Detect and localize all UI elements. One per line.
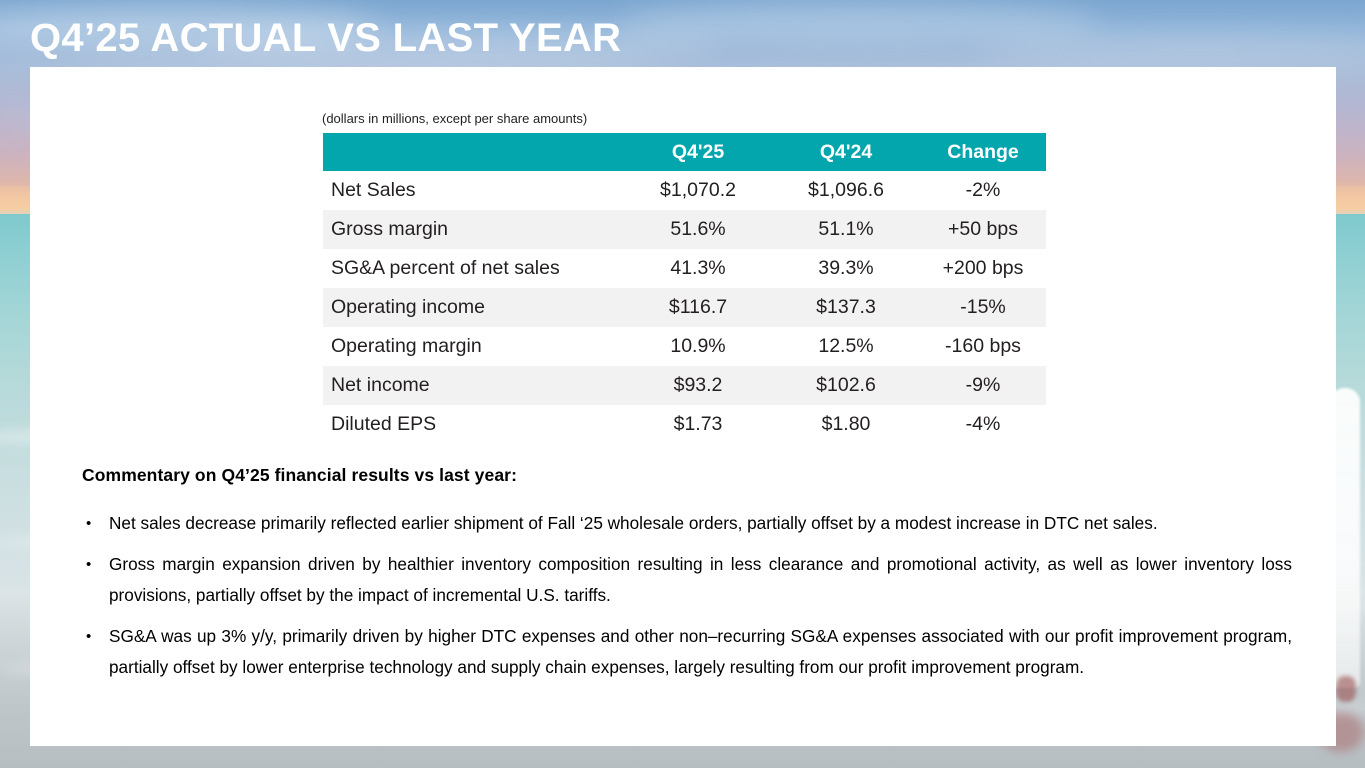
cell-metric: Gross margin: [323, 210, 624, 249]
cell-metric: Diluted EPS: [323, 405, 624, 444]
cell-change: +200 bps: [920, 249, 1046, 288]
commentary-bullet: Gross margin expansion driven by healthi…: [82, 549, 1292, 611]
table-row: Net income $93.2 $102.6 -9%: [323, 366, 1046, 405]
content-card: (dollars in millions, except per share a…: [30, 67, 1336, 746]
cell-metric: Operating income: [323, 288, 624, 327]
cell-current: 41.3%: [624, 249, 772, 288]
cell-metric: SG&A percent of net sales: [323, 249, 624, 288]
commentary-section: Commentary on Q4’25 financial results vs…: [82, 465, 1292, 693]
cell-prior: 12.5%: [772, 327, 920, 366]
cell-change: +50 bps: [920, 210, 1046, 249]
cell-prior: $137.3: [772, 288, 920, 327]
cell-current: 51.6%: [624, 210, 772, 249]
cell-current: $1,070.2: [624, 171, 772, 210]
cell-metric: Net Sales: [323, 171, 624, 210]
commentary-bullet-list: Net sales decrease primarily reflected e…: [82, 508, 1292, 683]
column-header-metric: [323, 133, 624, 171]
table-row: Gross margin 51.6% 51.1% +50 bps: [323, 210, 1046, 249]
column-header-prior: Q4'24: [772, 133, 920, 171]
cell-change: -4%: [920, 405, 1046, 444]
cell-metric: Net income: [323, 366, 624, 405]
cell-current: 10.9%: [624, 327, 772, 366]
table-row: Diluted EPS $1.73 $1.80 -4%: [323, 405, 1046, 444]
cell-change: -15%: [920, 288, 1046, 327]
commentary-bullet: Net sales decrease primarily reflected e…: [82, 508, 1292, 539]
financial-summary-table: Q4'25 Q4'24 Change Net Sales $1,070.2 $1…: [323, 133, 1046, 444]
column-header-current: Q4'25: [624, 133, 772, 171]
cell-change: -160 bps: [920, 327, 1046, 366]
table-row: Operating income $116.7 $137.3 -15%: [323, 288, 1046, 327]
commentary-bullet: SG&A was up 3% y/y, primarily driven by …: [82, 621, 1292, 683]
commentary-heading: Commentary on Q4’25 financial results vs…: [82, 465, 1292, 486]
cell-current: $116.7: [624, 288, 772, 327]
cell-current: $93.2: [624, 366, 772, 405]
cell-prior: $1,096.6: [772, 171, 920, 210]
cell-change: -9%: [920, 366, 1046, 405]
slide-title: Q4’25 ACTUAL VS LAST YEAR: [30, 16, 621, 61]
table-row: SG&A percent of net sales 41.3% 39.3% +2…: [323, 249, 1046, 288]
table-row: Operating margin 10.9% 12.5% -160 bps: [323, 327, 1046, 366]
cell-prior: $102.6: [772, 366, 920, 405]
cell-metric: Operating margin: [323, 327, 624, 366]
cell-change: -2%: [920, 171, 1046, 210]
cell-prior: 51.1%: [772, 210, 920, 249]
cell-current: $1.73: [624, 405, 772, 444]
cell-prior: 39.3%: [772, 249, 920, 288]
table-units-caption: (dollars in millions, except per share a…: [322, 111, 587, 126]
table-row: Net Sales $1,070.2 $1,096.6 -2%: [323, 171, 1046, 210]
slide: Q4’25 ACTUAL VS LAST YEAR (dollars in mi…: [0, 0, 1365, 768]
table-header: Q4'25 Q4'24 Change: [323, 133, 1046, 171]
cloud-shape: [620, 2, 1100, 42]
person-silhouette-detail: [1336, 676, 1356, 702]
table-header-row: Q4'25 Q4'24 Change: [323, 133, 1046, 171]
column-header-change: Change: [920, 133, 1046, 171]
table-body: Net Sales $1,070.2 $1,096.6 -2% Gross ma…: [323, 171, 1046, 444]
cell-prior: $1.80: [772, 405, 920, 444]
